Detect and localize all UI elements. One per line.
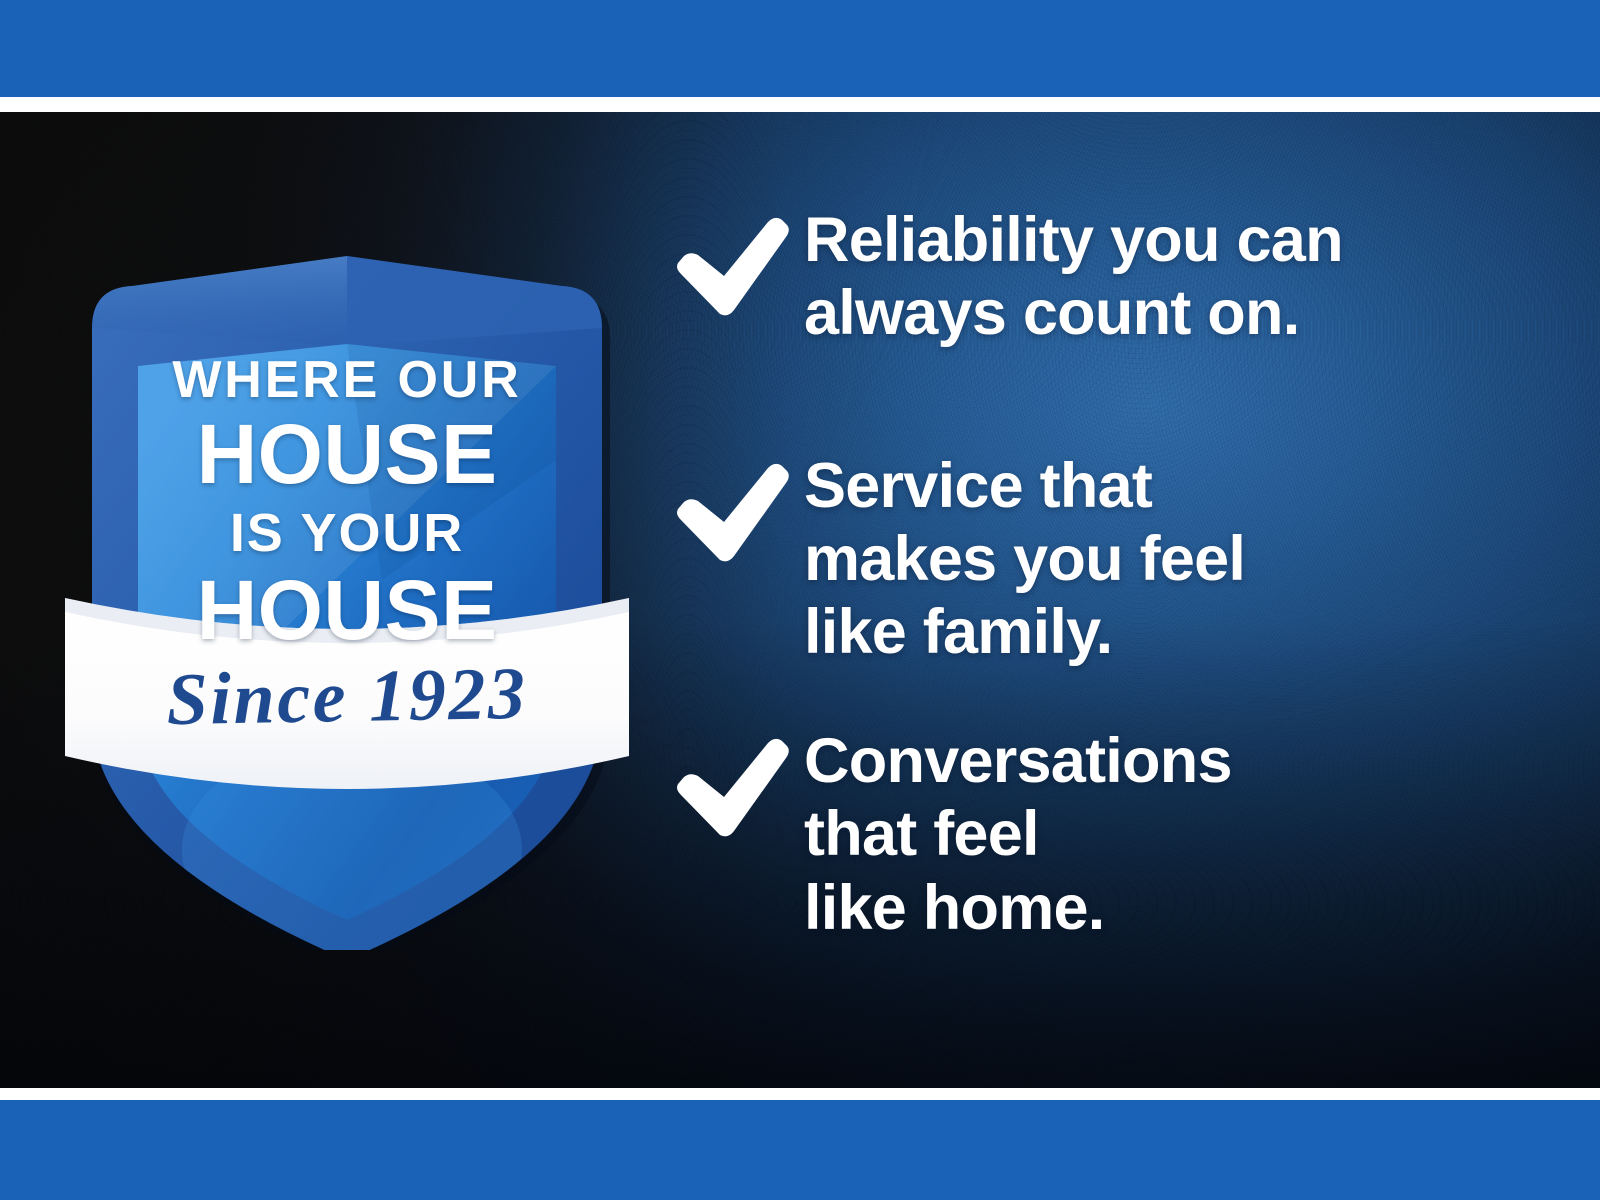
bottom-brand-bar — [0, 1100, 1600, 1200]
checkmark-icon — [672, 721, 804, 841]
shield-line-2: House — [52, 412, 642, 496]
list-item-line: Reliability you can — [804, 204, 1552, 277]
shield-bevel-group — [92, 256, 602, 346]
list-item-text: Reliability you can always count on. — [804, 200, 1552, 350]
checkmark-icon — [672, 200, 804, 320]
list-item-line: like family. — [804, 596, 1552, 669]
list-item-line: Service that — [804, 450, 1552, 523]
list-item-line: like home. — [804, 872, 1552, 945]
checkmark-icon — [672, 446, 804, 566]
shield-logo: Where Our House Is Your House Since 1923 — [52, 160, 642, 950]
list-item-line: always count on. — [804, 277, 1552, 350]
shield-line-3: Is Your — [52, 506, 642, 560]
shield-line-4: House — [52, 568, 642, 652]
list-item-line: that feel — [804, 798, 1552, 871]
list-item: Reliability you can always count on. — [672, 200, 1552, 350]
list-item-text: Service that makes you feel like family. — [804, 446, 1552, 669]
promo-graphic: Where Our House Is Your House Since 1923… — [0, 0, 1600, 1200]
list-item-text: Conversations that feel like home. — [804, 721, 1552, 944]
top-brand-bar — [0, 0, 1600, 97]
list-item-line: makes you feel — [804, 523, 1552, 596]
shield-line-1: Where Our — [52, 354, 642, 406]
list-item: Service that makes you feel like family. — [672, 446, 1552, 669]
value-prop-list: Reliability you can always count on. Ser… — [672, 200, 1552, 945]
list-item: Conversations that feel like home. — [672, 721, 1552, 944]
ribbon-since-text: Since 1923 — [51, 655, 642, 739]
list-item-line: Conversations — [804, 725, 1552, 798]
